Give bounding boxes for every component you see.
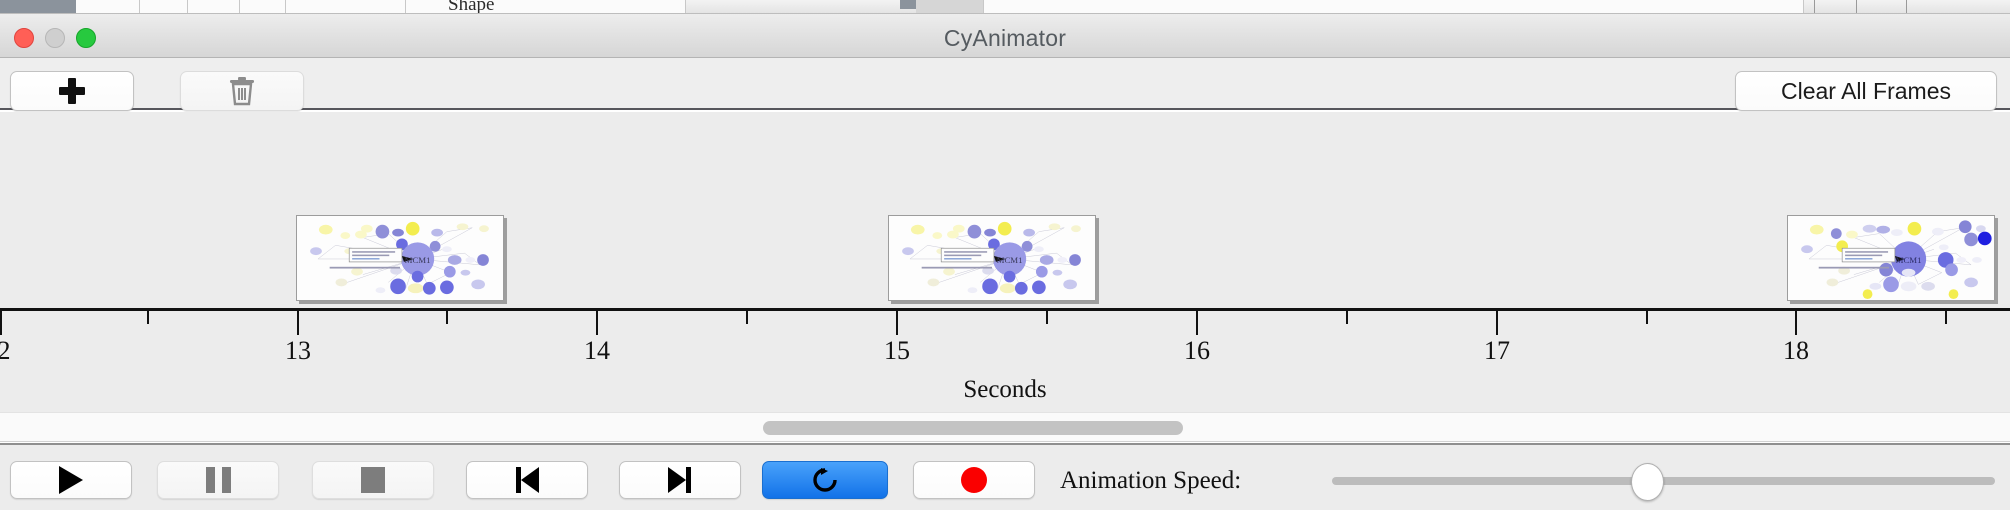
ruler-label: 14 [584, 336, 610, 366]
ruler-tick-major [1196, 311, 1198, 335]
ruler-tick-major [297, 311, 299, 335]
background-chip [188, 0, 240, 14]
cyanimator-window: Shape CyAnimator [0, 0, 2010, 510]
ruler-axis-title: Seconds [0, 376, 2010, 404]
background-chip [240, 0, 286, 14]
background-tick [1856, 0, 1857, 14]
background-chip [0, 0, 76, 14]
record-icon [961, 467, 987, 493]
timeline-ruler[interactable]: 2 13 14 15 16 17 18 Seconds [0, 306, 2010, 412]
frame-timeline-panel[interactable]: MCM1 [0, 112, 2010, 306]
delete-frame-button[interactable] [180, 71, 304, 111]
ruler-label: 2 [0, 336, 11, 366]
background-marker [900, 0, 916, 9]
frame-toolbar: Clear All Frames [0, 58, 2010, 110]
ruler-tick-minor [446, 311, 448, 324]
network-graph-preview: MCM1 [1788, 216, 1994, 300]
playback-control-bar: Animation Speed: [0, 443, 2010, 510]
next-frame-button[interactable] [619, 461, 741, 499]
background-chip [140, 0, 188, 14]
pause-icon [206, 467, 231, 493]
frame-thumbnail-2[interactable]: MCM1 [888, 215, 1096, 301]
background-tick [1906, 0, 1907, 14]
plus-icon [59, 78, 85, 104]
network-graph-preview: MCM1 [297, 216, 503, 300]
window-title: CyAnimator [0, 25, 2010, 52]
ruler-label: 13 [285, 336, 311, 366]
animation-speed-slider[interactable] [1332, 477, 1995, 485]
clear-all-frames-button[interactable]: Clear All Frames [1735, 71, 1997, 111]
scrollbar-thumb[interactable] [763, 421, 1183, 435]
frame-thumbnail-1[interactable]: MCM1 [296, 215, 504, 301]
background-chip [286, 0, 406, 14]
play-icon [59, 466, 83, 494]
loop-button[interactable] [762, 461, 888, 499]
slider-thumb[interactable] [1631, 463, 1664, 501]
ruler-label: 15 [884, 336, 910, 366]
background-app-strip: Shape [0, 0, 2010, 14]
ruler-tick-minor [1346, 311, 1348, 324]
ruler-tick-minor [746, 311, 748, 324]
record-button[interactable] [913, 461, 1035, 499]
frame-thumbnail-3[interactable]: MCM1 [1787, 215, 1995, 301]
ruler-tick-major [0, 311, 2, 335]
skip-back-icon [514, 467, 540, 493]
animation-speed-label: Animation Speed: [1060, 467, 1241, 495]
window-titlebar: CyAnimator [0, 14, 2010, 58]
horizontal-scrollbar[interactable] [0, 412, 2010, 442]
background-chip [76, 0, 140, 14]
network-graph-preview: MCM1 [889, 216, 1095, 300]
ruler-tick-minor [1046, 311, 1048, 324]
ruler-tick-major [1496, 311, 1498, 335]
pause-button[interactable] [157, 461, 279, 499]
ruler-label: 17 [1484, 336, 1510, 366]
clear-all-frames-label: Clear All Frames [1781, 78, 1951, 105]
loop-icon [810, 465, 840, 495]
play-button[interactable] [10, 461, 132, 499]
add-frame-button[interactable] [10, 71, 134, 111]
svg-text:MCM1: MCM1 [997, 255, 1023, 265]
previous-frame-button[interactable] [466, 461, 588, 499]
background-chip [984, 0, 1804, 14]
trash-icon [228, 76, 256, 106]
ruler-label: 16 [1184, 336, 1210, 366]
background-chip [916, 0, 984, 14]
ruler-tick-minor [1646, 311, 1648, 324]
ruler-tick-minor [1945, 311, 1947, 324]
ruler-tick-major [896, 311, 898, 335]
background-shape-label: Shape [448, 0, 494, 14]
ruler-label: 18 [1783, 336, 1809, 366]
skip-forward-icon [667, 467, 693, 493]
background-tick [1814, 0, 1815, 14]
svg-text:MCM1: MCM1 [1896, 255, 1922, 265]
stop-button[interactable] [312, 461, 434, 499]
ruler-tick-minor [147, 311, 149, 324]
svg-text:MCM1: MCM1 [405, 255, 431, 265]
ruler-baseline [0, 308, 2010, 311]
stop-icon [361, 467, 385, 493]
ruler-tick-major [1795, 311, 1797, 335]
ruler-tick-major [596, 311, 598, 335]
